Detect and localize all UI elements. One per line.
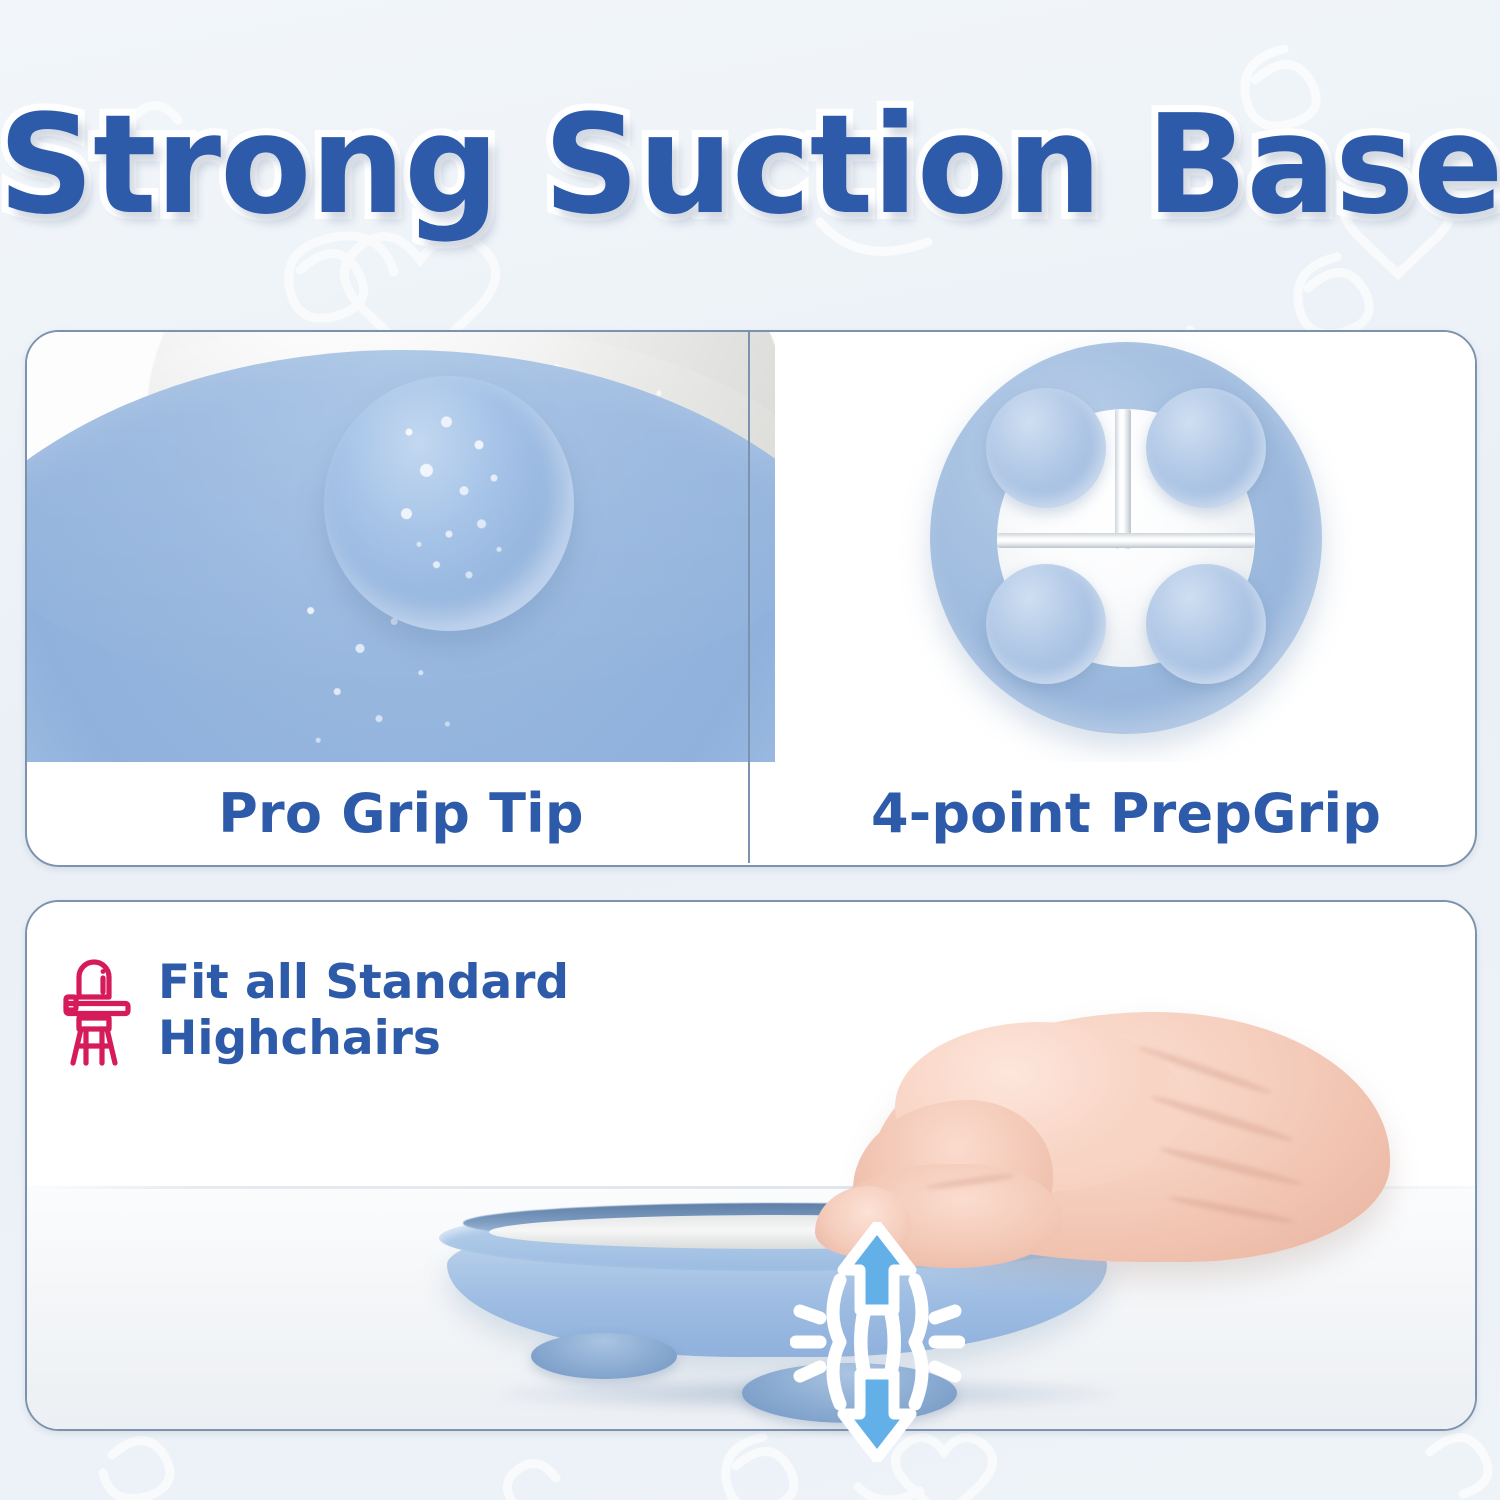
arrow-up-icon: [843, 1226, 911, 1310]
prepgrip-caption: 4-point PrepGrip: [777, 762, 1475, 865]
suction-cup-bottom-left: [986, 564, 1106, 684]
highchair-icon: [60, 959, 134, 1067]
title-area: Strong Suction Base: [0, 0, 1500, 330]
arrow-down-icon: [843, 1374, 911, 1458]
page-title: Strong Suction Base: [0, 86, 1500, 245]
suction-foot-left: [531, 1333, 677, 1379]
top-feature-card: Pro Grip Tip 4-point PrepGrip: [25, 330, 1477, 867]
pro-grip-tip-photo: [27, 332, 775, 762]
suction-cup-top-left: [986, 388, 1106, 508]
feature-pane-pro-grip-tip: Pro Grip Tip: [27, 332, 775, 865]
feature-pane-prepgrip: 4-point PrepGrip: [777, 332, 1475, 865]
prepgrip-photo: [777, 332, 1475, 762]
fit-highchairs-headline: Fit all Standard Highchairs: [158, 955, 569, 1068]
prepgrip-scene: [777, 332, 1475, 762]
fit-highchairs-block: Fit all Standard Highchairs: [60, 955, 660, 1068]
top-card-divider: [748, 330, 750, 863]
suction-cup-top-right: [1146, 388, 1266, 508]
bowl-underside-disc: [930, 342, 1322, 734]
suction-tip: [324, 376, 574, 631]
suction-up-down-arrows-icon: [790, 1222, 965, 1462]
pro-grip-tip-caption: Pro Grip Tip: [27, 762, 775, 865]
pro-grip-tip-scene: [27, 332, 775, 762]
suction-cup-bottom-right: [1146, 564, 1266, 684]
